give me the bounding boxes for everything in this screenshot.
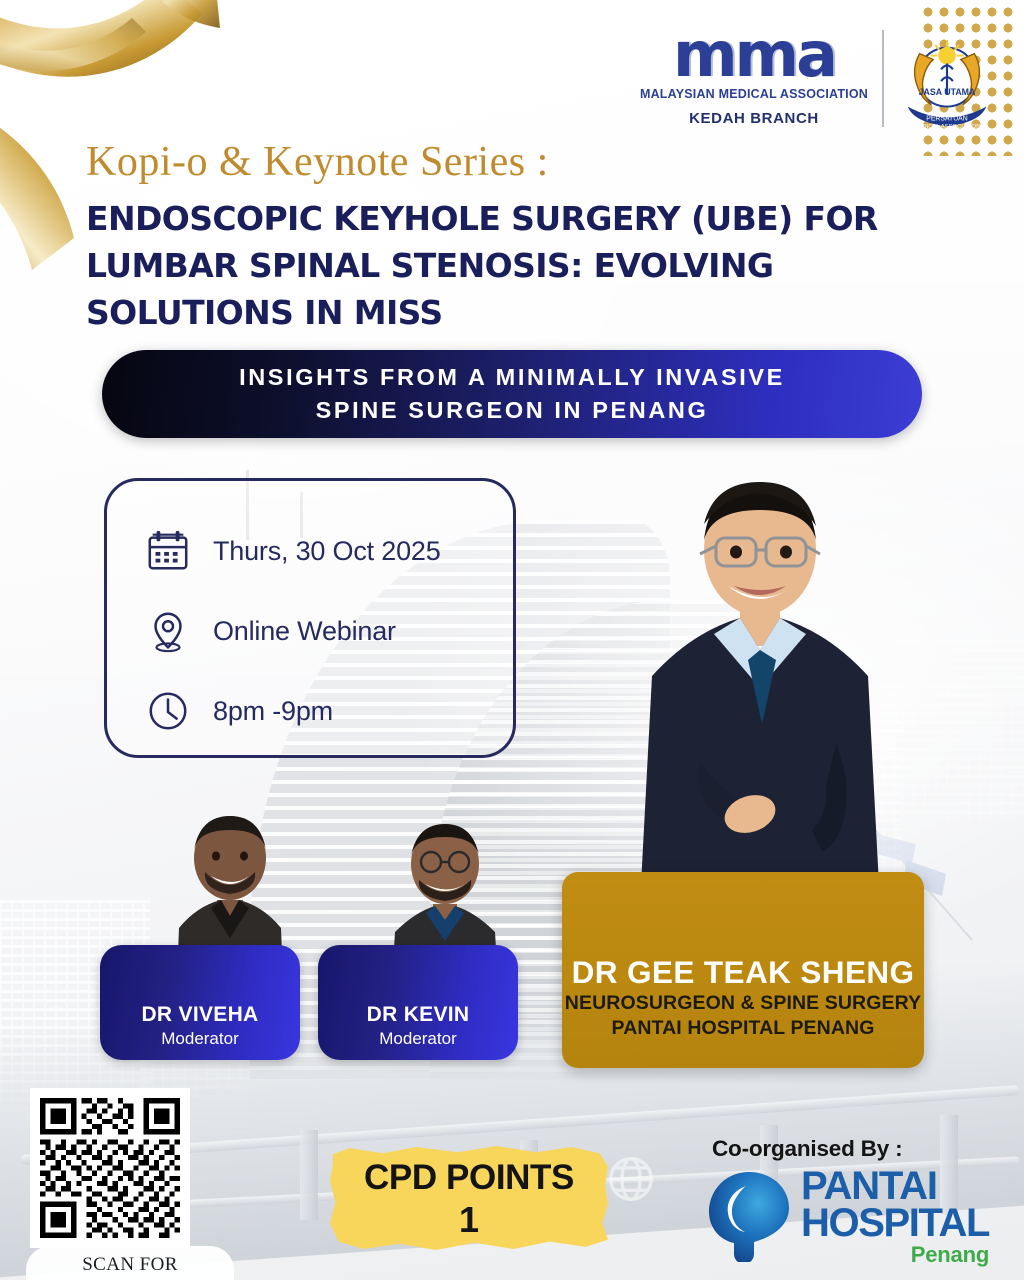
pantai-location: Penang: [801, 1245, 989, 1265]
svg-text:JASA UTAMA: JASA UTAMA: [919, 87, 976, 97]
globe-icon: [604, 1152, 658, 1206]
speaker-specialty: NEUROSURGEON & SPINE SURGERY: [562, 991, 924, 1016]
pantai-name-line-2: HOSPITAL: [801, 1205, 989, 1242]
subtitle-line-1: INSIGHTS FROM A MINIMALLY INVASIVE: [239, 361, 785, 394]
speaker-affiliation: PANTAI HOSPITAL PENANG: [562, 1016, 924, 1041]
pantai-droplet-icon: [706, 1170, 792, 1262]
moderator-1-name: DR VIVEHA: [100, 1003, 300, 1027]
page-title: ENDOSCOPIC KEYHOLE SURGERY (UBE) FOR LUM…: [86, 196, 936, 337]
svg-text:MEDICAL ASSOCIATION: MEDICAL ASSOCIATION: [914, 124, 981, 130]
event-time: 8pm -9pm: [213, 696, 333, 727]
qr-code-icon[interactable]: [30, 1088, 190, 1248]
registration-label-line-1: SCAN FOR: [26, 1253, 234, 1276]
pantai-name-line-1: PANTAI: [801, 1168, 989, 1205]
registration-label-line-2: REGISTRATION: [26, 1276, 234, 1280]
speaker-name: DR GEE TEAK SHENG: [562, 954, 924, 991]
series-title: Kopi-o & Keynote Series :: [86, 138, 549, 186]
mma-full-name: MALAYSIAN MEDICAL ASSOCIATION: [640, 87, 868, 101]
clock-icon: [145, 688, 191, 734]
registration-label: SCAN FOR REGISTRATION: [26, 1246, 234, 1280]
cpd-points-badge: CPD POINTS 1: [330, 1146, 608, 1250]
event-venue: Online Webinar: [213, 616, 396, 647]
moderator-card-2: DR KEVIN Moderator: [318, 945, 518, 1060]
moderator-1-role: Moderator: [100, 1029, 300, 1049]
registration-qr-block[interactable]: SCAN FOR REGISTRATION: [30, 1088, 190, 1253]
malaysia-mma-crest-icon: PERSATUAN MEDICAL ASSOCIATION JASA UTAMA: [898, 30, 996, 142]
detail-row-date: Thurs, 30 Oct 2025: [145, 511, 513, 591]
speaker-photo: [600, 462, 930, 942]
calendar-icon: [145, 528, 191, 574]
subtitle-banner: INSIGHTS FROM A MINIMALLY INVASIVE SPINE…: [102, 350, 922, 438]
organizer-logos: mma MALAYSIAN MEDICAL ASSOCIATION KEDAH …: [640, 30, 996, 142]
event-details-card: Thurs, 30 Oct 2025 Online Webinar 8pm -9…: [104, 478, 516, 758]
coorganiser-label: Co-organised By :: [712, 1136, 902, 1162]
speaker-card: DR GEE TEAK SHENG NEUROSURGEON & SPINE S…: [562, 872, 924, 1068]
mma-branch-label: KEDAH BRANCH: [640, 110, 868, 127]
pantai-wordmark: PANTAI HOSPITAL Penang: [801, 1168, 989, 1265]
subtitle-line-2: SPINE SURGEON IN PENANG: [316, 394, 709, 427]
moderator-card-1: DR VIVEHA Moderator: [100, 945, 300, 1060]
cpd-value: 1: [330, 1199, 608, 1241]
mma-wordmark: mma: [640, 30, 868, 80]
moderator-2-role: Moderator: [318, 1029, 518, 1049]
detail-row-venue: Online Webinar: [145, 591, 513, 671]
mma-logo: mma MALAYSIAN MEDICAL ASSOCIATION KEDAH …: [640, 30, 884, 127]
event-poster: mma MALAYSIAN MEDICAL ASSOCIATION KEDAH …: [0, 0, 1024, 1280]
event-date: Thurs, 30 Oct 2025: [213, 536, 441, 567]
detail-row-time: 8pm -9pm: [145, 671, 513, 751]
pantai-hospital-logo: PANTAI HOSPITAL Penang: [706, 1168, 989, 1265]
moderator-2-name: DR KEVIN: [318, 1003, 518, 1027]
location-pin-icon: [145, 608, 191, 654]
cpd-label: CPD POINTS: [330, 1158, 608, 1198]
svg-text:PERSATUAN: PERSATUAN: [926, 115, 967, 122]
